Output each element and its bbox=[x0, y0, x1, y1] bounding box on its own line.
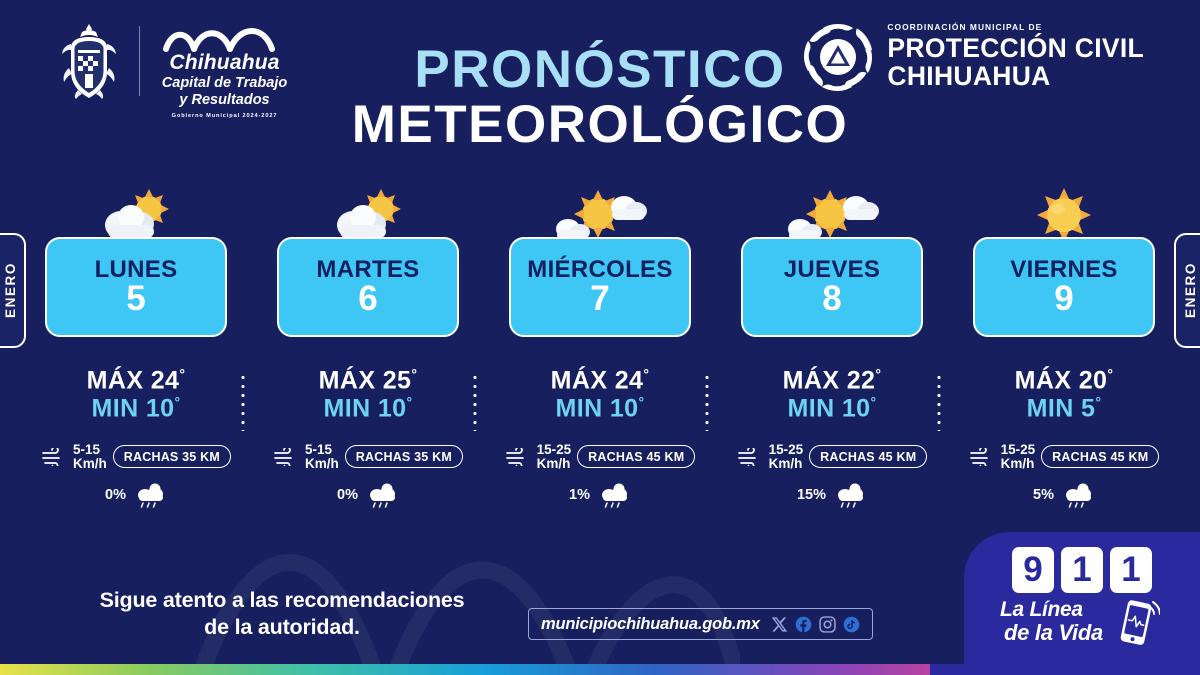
emergency-tagline: La Línea de la Vida bbox=[982, 598, 1182, 652]
wind-icon bbox=[41, 448, 67, 466]
forecast-day-card: MARTES 6 MÁX 25° MIN 10° 5-15 Km/h RACHA… bbox=[262, 185, 474, 545]
page-title: PRONÓSTICO METEOROLÓGICO bbox=[0, 42, 1200, 152]
forecast-day-card: VIERNES 9 MÁX 20° MIN 5° 15-25 Km/h RACH… bbox=[958, 185, 1170, 545]
month-tab-right-label: ENERO bbox=[1183, 262, 1198, 318]
wind-row: 15-25 Km/h RACHAS 45 KM bbox=[969, 443, 1160, 471]
instagram-icon[interactable] bbox=[819, 616, 836, 633]
forecast-day-card: LUNES 5 MÁX 24° MIN 10° 5-15 Km/h RACHAS… bbox=[30, 185, 242, 545]
max-temperature: MÁX 20° bbox=[1015, 367, 1114, 395]
min-temperature: MIN 5° bbox=[1015, 395, 1114, 423]
emergency-tagline-line-1: La Línea bbox=[1000, 598, 1083, 622]
sun-icon bbox=[958, 183, 1170, 245]
footer-message-line-1: Sigue atento a las recomendaciones bbox=[62, 587, 502, 614]
sun-with-clouds-icon bbox=[494, 183, 706, 245]
wind-icon bbox=[505, 448, 531, 466]
column-divider bbox=[241, 373, 245, 431]
wind-row: 5-15 Km/h RACHAS 35 KM bbox=[273, 443, 463, 471]
sun-behind-cloud-icon bbox=[30, 183, 242, 245]
wind-icon bbox=[969, 448, 995, 466]
gusts-badge: RACHAS 35 KM bbox=[345, 445, 463, 468]
temperatures: MÁX 25° MIN 10° bbox=[319, 367, 418, 423]
min-temperature: MIN 10° bbox=[783, 395, 882, 423]
temperatures: MÁX 20° MIN 5° bbox=[1015, 367, 1114, 423]
day-number: 8 bbox=[822, 281, 841, 317]
day-card: MIÉRCOLES 7 bbox=[509, 237, 691, 337]
emergency-tagline-line-2: de la Vida bbox=[1004, 620, 1103, 646]
wind-icon bbox=[737, 448, 763, 466]
website-bar[interactable]: municipiochihuahua.gob.mx bbox=[528, 608, 873, 640]
gusts-badge: RACHAS 45 KM bbox=[1041, 445, 1159, 468]
temperatures: MÁX 24° MIN 10° bbox=[87, 367, 186, 423]
column-divider bbox=[937, 373, 941, 431]
rain-cloud-icon bbox=[1061, 482, 1095, 508]
emergency-digit: 1 bbox=[1110, 547, 1152, 593]
temperatures: MÁX 24° MIN 10° bbox=[551, 367, 650, 423]
rain-row: 1% bbox=[569, 482, 631, 508]
day-number: 7 bbox=[590, 281, 609, 317]
rain-row: 15% bbox=[797, 482, 867, 508]
rain-chance: 15% bbox=[797, 487, 826, 503]
civil-protection-subtitle: COORDINACIÓN MUNICIPAL DE bbox=[887, 23, 1144, 31]
min-temperature: MIN 10° bbox=[87, 395, 186, 423]
rain-row: 5% bbox=[1033, 482, 1095, 508]
day-number: 6 bbox=[358, 281, 377, 317]
gusts-badge: RACHAS 35 KM bbox=[113, 445, 231, 468]
max-temperature: MÁX 24° bbox=[551, 367, 650, 395]
min-temperature: MIN 10° bbox=[551, 395, 650, 423]
footer-message-line-2: de la autoridad. bbox=[62, 614, 502, 641]
rain-cloud-icon bbox=[133, 482, 167, 508]
wind-speed: 5-15 Km/h bbox=[305, 443, 339, 471]
day-card: LUNES 5 bbox=[45, 237, 227, 337]
wind-speed: 15-25 Km/h bbox=[769, 443, 804, 471]
mobile-phone-pulse-icon bbox=[1116, 596, 1160, 650]
day-number: 5 bbox=[126, 281, 145, 317]
gusts-badge: RACHAS 45 KM bbox=[577, 445, 695, 468]
max-temperature: MÁX 24° bbox=[87, 367, 186, 395]
temperatures: MÁX 22° MIN 10° bbox=[783, 367, 882, 423]
day-card: JUEVES 8 bbox=[741, 237, 923, 337]
gusts-badge: RACHAS 45 KM bbox=[809, 445, 927, 468]
day-number: 9 bbox=[1054, 281, 1073, 317]
sun-with-clouds-icon bbox=[726, 183, 938, 245]
month-tab-left: ENERO bbox=[0, 233, 26, 348]
page-title-line-1: PRONÓSTICO bbox=[0, 42, 1200, 97]
rain-chance: 5% bbox=[1033, 487, 1054, 503]
tiktok-icon[interactable] bbox=[843, 616, 860, 633]
forecast-day-card: JUEVES 8 MÁX 22° MIN 10° 15-25 Km/h RACH… bbox=[726, 185, 938, 545]
emergency-number: 9 1 1 bbox=[1012, 547, 1152, 593]
wind-row: 5-15 Km/h RACHAS 35 KM bbox=[41, 443, 231, 471]
rain-cloud-icon bbox=[365, 482, 399, 508]
wind-row: 15-25 Km/h RACHAS 45 KM bbox=[737, 443, 928, 471]
wind-icon bbox=[273, 448, 299, 466]
x-icon[interactable] bbox=[771, 616, 788, 633]
color-strip-mask bbox=[930, 664, 1200, 675]
emergency-digit: 9 bbox=[1012, 547, 1054, 593]
max-temperature: MÁX 22° bbox=[783, 367, 882, 395]
wind-speed: 15-25 Km/h bbox=[1001, 443, 1036, 471]
rain-cloud-icon bbox=[833, 482, 867, 508]
month-tab-right: ENERO bbox=[1174, 233, 1200, 348]
social-links bbox=[771, 616, 860, 633]
rain-chance: 1% bbox=[569, 487, 590, 503]
wind-speed: 5-15 Km/h bbox=[73, 443, 107, 471]
rain-row: 0% bbox=[105, 482, 167, 508]
emergency-911-badge: 9 1 1 La Línea de la Vida bbox=[964, 532, 1200, 664]
wind-row: 15-25 Km/h RACHAS 45 KM bbox=[505, 443, 696, 471]
wind-speed: 15-25 Km/h bbox=[537, 443, 572, 471]
rain-chance: 0% bbox=[105, 487, 126, 503]
month-tab-left-label: ENERO bbox=[3, 262, 18, 318]
column-divider bbox=[705, 373, 709, 431]
sun-behind-cloud-icon bbox=[262, 183, 474, 245]
rain-cloud-icon bbox=[597, 482, 631, 508]
min-temperature: MIN 10° bbox=[319, 395, 418, 423]
day-card: VIERNES 9 bbox=[973, 237, 1155, 337]
page-title-line-2: METEOROLÓGICO bbox=[0, 97, 1200, 152]
rain-chance: 0% bbox=[337, 487, 358, 503]
footer-message: Sigue atento a las recomendaciones de la… bbox=[62, 587, 502, 641]
website-url[interactable]: municipiochihuahua.gob.mx bbox=[541, 615, 760, 634]
infographic-canvas: Chihuahua Capital de Trabajo y Resultado… bbox=[0, 0, 1200, 675]
forecast-grid: LUNES 5 MÁX 24° MIN 10° 5-15 Km/h RACHAS… bbox=[30, 185, 1170, 545]
facebook-icon[interactable] bbox=[795, 616, 812, 633]
column-divider bbox=[473, 373, 477, 431]
header: Chihuahua Capital de Trabajo y Resultado… bbox=[0, 0, 1200, 170]
emergency-digit: 1 bbox=[1061, 547, 1103, 593]
max-temperature: MÁX 25° bbox=[319, 367, 418, 395]
day-card: MARTES 6 bbox=[277, 237, 459, 337]
forecast-day-card: MIÉRCOLES 7 MÁX 24° MIN 10° 15-25 Km/h R… bbox=[494, 185, 706, 545]
rain-row: 0% bbox=[337, 482, 399, 508]
